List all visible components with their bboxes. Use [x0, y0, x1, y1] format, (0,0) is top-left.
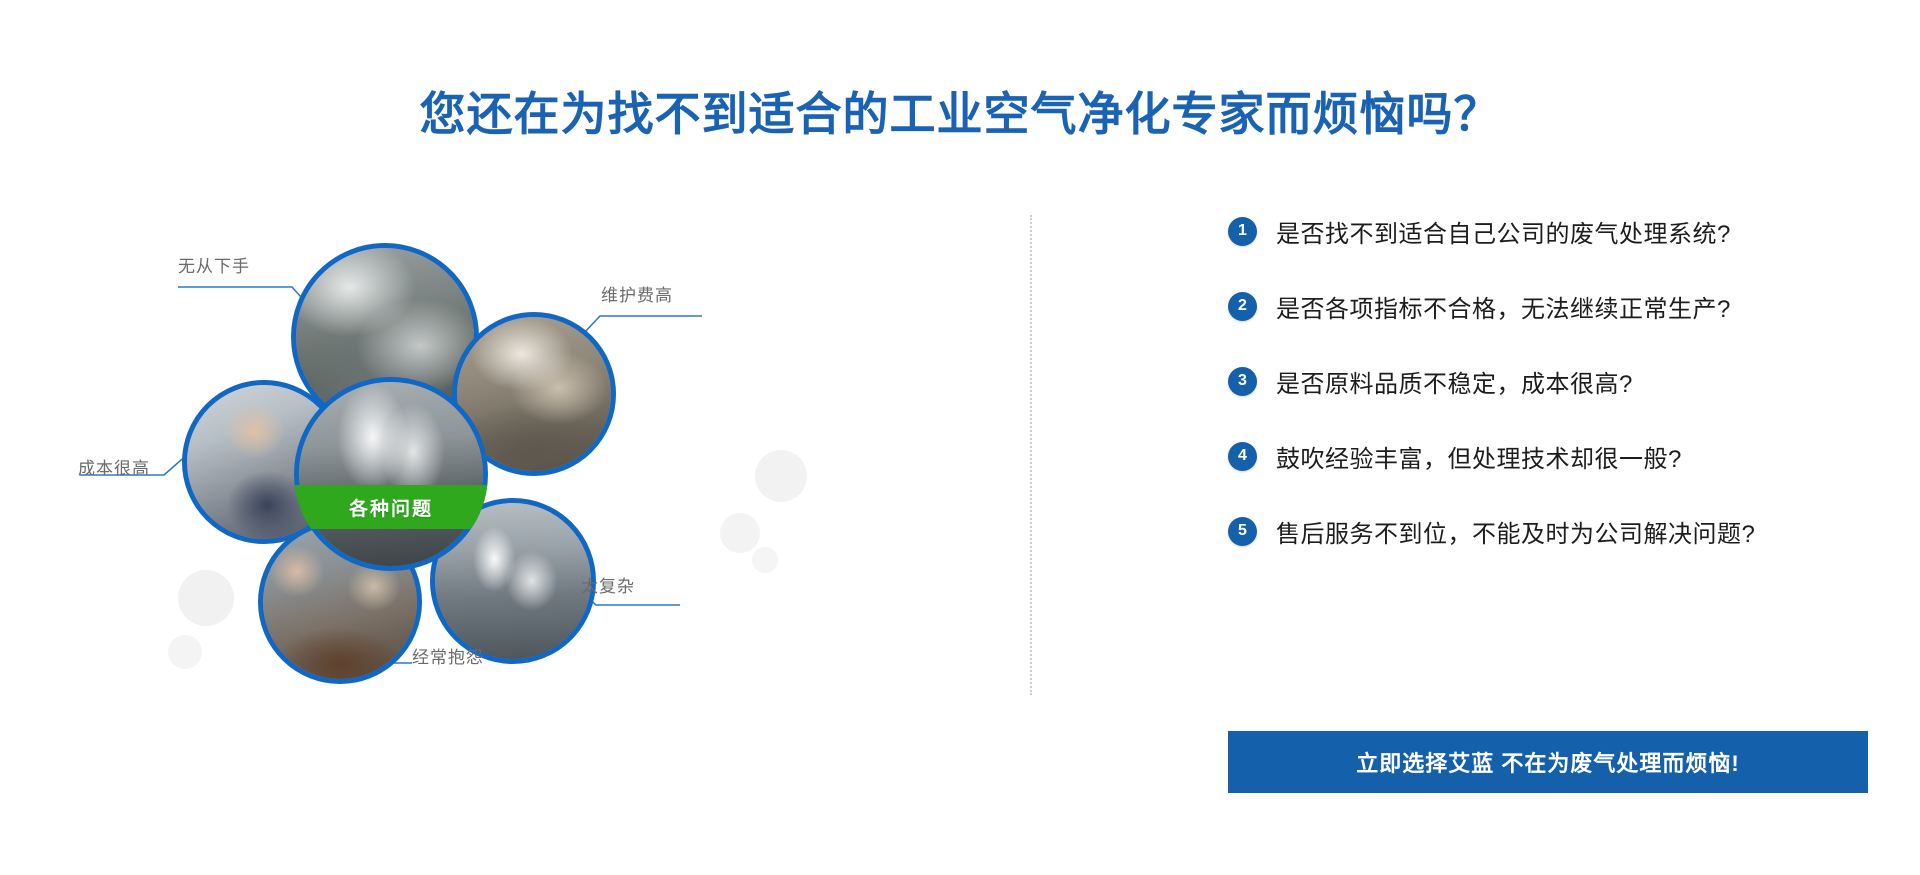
vertical-dotted-divider — [1030, 215, 1032, 695]
list-item: 3 是否原料品质不稳定，成本很高? — [1228, 366, 1868, 396]
list-number-badge: 1 — [1228, 217, 1257, 246]
list-item-label: 是否原料品质不稳定，成本很高? — [1276, 364, 1633, 399]
cta-button[interactable]: 立即选择艾蓝 不在为废气处理而烦恼! — [1228, 731, 1868, 793]
list-item: 4 鼓吹经验丰富，但处理技术却很一般? — [1228, 441, 1868, 471]
callout-label-bottom: 经常抱怨 — [412, 643, 484, 668]
list-item-label: 鼓吹经验丰富，但处理技术却很一般? — [1276, 439, 1682, 474]
factory-smokestacks-image — [299, 382, 483, 566]
list-number-badge: 5 — [1228, 517, 1257, 546]
list-number-badge: 2 — [1228, 292, 1257, 321]
list-item: 2 是否各项指标不合格，无法继续正常生产? — [1228, 291, 1868, 321]
list-number-badge: 4 — [1228, 442, 1257, 471]
list-item-label: 是否各项指标不合格，无法继续正常生产? — [1276, 289, 1731, 324]
landing-section: 您还在为找不到适合的工业空气净化专家而烦恼吗？ — [0, 0, 1920, 875]
pain-point-list: 1 是否找不到适合自己公司的废气处理系统? 2 是否各项指标不合格，无法继续正常… — [1228, 216, 1868, 546]
callout-label-top-left: 无从下手 — [178, 252, 250, 277]
page-title: 您还在为找不到适合的工业空气净化专家而烦恼吗？ — [0, 86, 1920, 144]
callout-label-top-right: 维护费高 — [601, 281, 673, 306]
list-item-label: 售后服务不到位，不能及时为公司解决问题? — [1276, 514, 1755, 549]
problem-cluster-graphic: 各种问题 无从下手 维护费高 成本很高 太复杂 经常抱怨 — [60, 195, 1010, 855]
callout-label-left: 成本很高 — [78, 454, 150, 479]
list-item-label: 是否找不到适合自己公司的废气处理系统? — [1276, 214, 1731, 249]
list-item: 5 售后服务不到位，不能及时为公司解决问题? — [1228, 516, 1868, 546]
callout-label-bottom-right: 太复杂 — [581, 572, 635, 597]
list-item: 1 是否找不到适合自己公司的废气处理系统? — [1228, 216, 1868, 246]
photo-circle-center-smokestacks — [294, 377, 488, 571]
list-number-badge: 3 — [1228, 367, 1257, 396]
